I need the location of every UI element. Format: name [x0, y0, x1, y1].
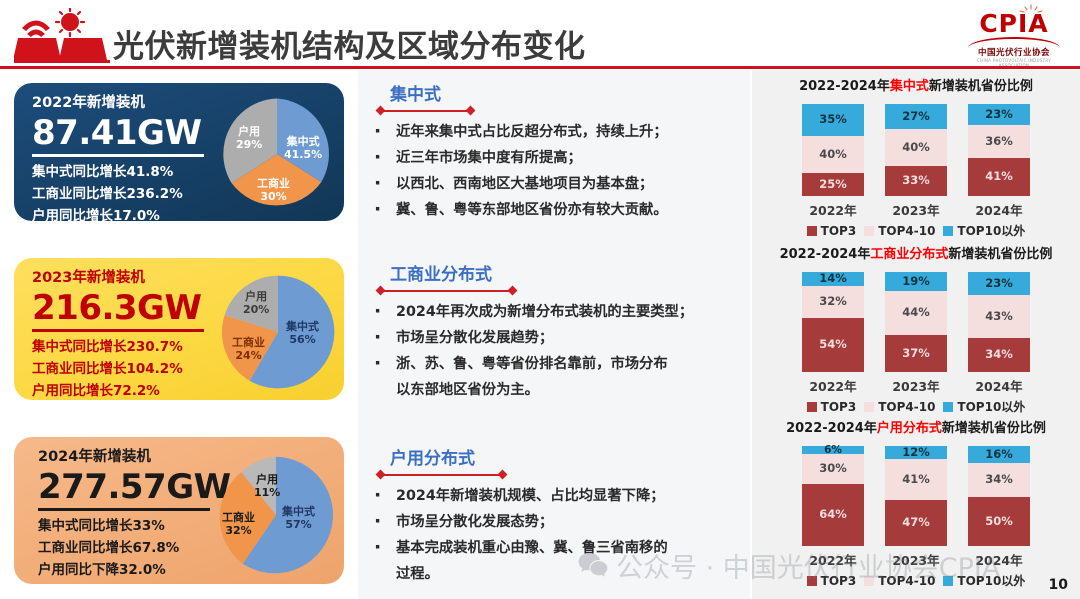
- pie-slice-label: 工商业24%: [232, 336, 265, 362]
- logo-underline: [14, 60, 110, 63]
- cpia-arc: [968, 37, 1060, 48]
- legend-item-top3: TOP3: [807, 572, 857, 589]
- legend-item-top10plus: TOP10以外: [943, 572, 1025, 589]
- x-tick-label: 2024年: [968, 200, 1030, 219]
- section-bullet-list: 近年来集中式占比反超分布式，持续上升； 近三年市场集中度有所提高； 以西北、西南…: [358, 119, 750, 223]
- bullet-item: 市场呈分散化发展趋势；: [358, 325, 750, 351]
- card-total-value: 87.41GW: [32, 113, 214, 153]
- slide-header: 光伏新增装机结构及区域分布变化 CPIA 中国光伏行业协会 CHINA PHOT…: [0, 0, 1080, 70]
- bullet-item: 浙、苏、鲁、粤等省份排名靠前，市场分布: [358, 351, 750, 377]
- section-heading: 集中式: [390, 84, 750, 106]
- page-number: 10: [1049, 577, 1068, 593]
- pie-chart-2023: 集中式56% 工商业24% 户用20%: [218, 272, 338, 392]
- card-divider: [32, 329, 204, 332]
- summary-card-2024: 2024年新增装机 277.57GW 集中式同比增长33% 工商业同比增长67.…: [14, 437, 344, 584]
- card-total-value: 216.3GW: [32, 288, 214, 328]
- card-stat-line: 户用同比增长72.2%: [32, 380, 214, 401]
- section-bullet-list: 2024年再次成为新增分布式装机的主要类型； 市场呈分散化发展趋势； 浙、苏、鲁…: [358, 299, 750, 403]
- pie-svg: [218, 272, 338, 392]
- legend-item-top410: TOP4-10: [864, 572, 935, 589]
- x-tick-label: 2022年: [802, 200, 864, 219]
- chart-plot-area: 14% 32% 54% 19% 44% 37% 23% 43% 34%: [752, 272, 1080, 372]
- bullet-item-continued: 以东部地区省份为主。: [358, 377, 750, 403]
- pie-slice-label: 户用29%: [236, 125, 262, 151]
- card-text-block: 2024年新增装机 277.57GW 集中式同比增长33% 工商业同比增长67.…: [38, 447, 220, 581]
- analysis-section-centralized: 集中式 近年来集中式占比反超分布式，持续上升； 近三年市场集中度有所提高； 以西…: [358, 84, 750, 223]
- bar-stack-2022: 14% 32% 54%: [802, 272, 864, 372]
- section-heading: 工商业分布式: [390, 264, 750, 286]
- chart-x-axis: 2022年 2023年 2024年: [752, 376, 1080, 396]
- segment-top10plus: 27%: [885, 104, 947, 129]
- pie-slice-label: 工商业30%: [257, 177, 290, 203]
- legend-swatch-top410: [864, 402, 874, 412]
- bar-stack-2023: 27% 40% 33%: [885, 104, 947, 196]
- x-tick-label: 2023年: [885, 376, 947, 395]
- segment-top3: 34%: [968, 338, 1030, 372]
- card-stat-line: 集中式同比增长230.7%: [32, 336, 214, 358]
- segment-top410: 40%: [802, 136, 864, 173]
- card-stat-line: 户用同比增长17.0%: [32, 205, 214, 222]
- chart-legend: TOP3 TOP4-10 TOP10以外: [752, 398, 1080, 415]
- segment-top410: 36%: [968, 125, 1030, 158]
- section-underline: [374, 106, 750, 116]
- chart-plot-area: 6% 30% 64% 12% 41% 47% 16% 34% 50%: [752, 446, 1080, 546]
- segment-top10plus: 23%: [968, 272, 1030, 295]
- sun-rays-icon: [1018, 4, 1044, 16]
- segment-top10plus: 12%: [885, 446, 947, 459]
- bar-stack-2023: 19% 44% 37%: [885, 272, 947, 372]
- bullet-item: 市场呈分散化发展态势；: [358, 509, 750, 535]
- cpia-logo: CPIA 中国光伏行业协会 CHINA PHOTOVOLTAIC INDUSTR…: [962, 2, 1066, 64]
- header-divider: [0, 66, 1080, 69]
- legend-swatch-top10plus: [943, 576, 953, 586]
- segment-top3: 41%: [968, 158, 1030, 196]
- pie-slice-label: 户用20%: [243, 290, 269, 316]
- segment-top10plus: 23%: [968, 104, 1030, 125]
- bullet-item: 近三年市场集中度有所提高；: [358, 145, 750, 171]
- legend-swatch-top3: [807, 402, 817, 412]
- chart-legend: TOP3 TOP4-10 TOP10以外: [752, 572, 1080, 589]
- segment-top410: 40%: [885, 129, 947, 166]
- chart-legend: TOP3 TOP4-10 TOP10以外: [752, 222, 1080, 239]
- segment-top3: 50%: [968, 497, 1030, 546]
- legend-item-top3: TOP3: [807, 222, 857, 239]
- pie-chart-2024: 集中式57% 工商业32% 户用11%: [214, 453, 338, 577]
- card-text-block: 2023年新增装机 216.3GW 集中式同比增长230.7% 工商业同比增长1…: [32, 268, 214, 400]
- slide-root: 光伏新增装机结构及区域分布变化 CPIA 中国光伏行业协会 CHINA PHOT…: [0, 0, 1080, 599]
- x-tick-label: 2022年: [802, 550, 864, 569]
- pie-slice-label: 集中式56%: [286, 320, 319, 346]
- pie-slice-label: 户用11%: [254, 473, 280, 499]
- card-divider: [32, 154, 204, 157]
- section-underline: [374, 470, 750, 480]
- bullet-item-continued: 过程。: [358, 561, 750, 587]
- section-bullet-list: 2024年新增装机规模、占比均显著下降； 市场呈分散化发展态势； 基本完成装机重…: [358, 483, 750, 587]
- analysis-section-residential: 户用分布式 2024年新增装机规模、占比均显著下降； 市场呈分散化发展态势； 基…: [358, 448, 750, 587]
- segment-top3: 33%: [885, 166, 947, 196]
- bullet-item: 2024年再次成为新增分布式装机的主要类型；: [358, 299, 750, 325]
- pie-chart-2022: 集中式41.5% 工商业30% 户用29%: [218, 95, 336, 213]
- card-year-label: 2024年新增装机: [38, 447, 220, 467]
- bar-stack-2022: 35% 40% 25%: [802, 104, 864, 196]
- bar-stack-2024: 23% 43% 34%: [968, 272, 1030, 372]
- analysis-column: 集中式 近年来集中式占比反超分布式，持续上升； 近三年市场集中度有所提高； 以西…: [358, 70, 750, 599]
- bullet-item: 2024年新增装机规模、占比均显著下降；: [358, 483, 750, 509]
- legend-swatch-top10plus: [943, 226, 953, 236]
- chart-title: 2022-2024年户用分布式新增装机省份比例: [752, 420, 1080, 438]
- segment-top410: 44%: [885, 291, 947, 335]
- x-tick-label: 2024年: [968, 550, 1030, 569]
- legend-item-top3: TOP3: [807, 398, 857, 415]
- pie-slice-label: 集中式41.5%: [284, 135, 322, 161]
- card-stat-line: 工商业同比增长236.2%: [32, 183, 214, 205]
- card-text-block: 2022年新增装机 87.41GW 集中式同比增长41.8% 工商业同比增长23…: [32, 93, 214, 221]
- legend-swatch-top3: [807, 576, 817, 586]
- legend-swatch-top410: [864, 576, 874, 586]
- section-underline: [374, 286, 750, 296]
- bar-stack-2024: 23% 36% 41%: [968, 104, 1030, 196]
- segment-top10plus: 16%: [968, 446, 1030, 463]
- bullet-item: 以西北、西南地区大基地项目为基本盘；: [358, 171, 750, 197]
- segment-top10plus: 6%: [802, 446, 864, 454]
- x-tick-label: 2023年: [885, 550, 947, 569]
- segment-top410: 30%: [802, 454, 864, 484]
- cpia-cn-name: 中国光伏行业协会: [962, 48, 1066, 58]
- chart-title: 2022-2024年集中式新增装机省份比例: [752, 78, 1080, 96]
- segment-top3: 47%: [885, 500, 947, 546]
- segment-top10plus: 35%: [802, 104, 864, 136]
- segment-top10plus: 14%: [802, 272, 864, 286]
- summary-card-2022: 2022年新增装机 87.41GW 集中式同比增长41.8% 工商业同比增长23…: [14, 83, 344, 221]
- card-stat-line: 工商业同比增长104.2%: [32, 358, 214, 380]
- segment-top3: 25%: [802, 173, 864, 196]
- charts-column: 2022-2024年集中式新增装机省份比例 35% 40% 25% 27% 40…: [752, 70, 1080, 599]
- card-stat-line: 集中式同比增长41.8%: [32, 161, 214, 183]
- segment-top3: 54%: [802, 318, 864, 372]
- chart-residential-province-share: 2022-2024年户用分布式新增装机省份比例 6% 30% 64% 12% 4…: [752, 420, 1080, 589]
- chart-title: 2022-2024年工商业分布式新增装机省份比例: [752, 246, 1080, 264]
- page-title: 光伏新增装机结构及区域分布变化: [113, 21, 586, 66]
- card-divider: [38, 508, 210, 511]
- segment-top410: 41%: [885, 459, 947, 500]
- pie-slice-label: 工商业32%: [222, 511, 255, 537]
- chart-commercial-province-share: 2022-2024年工商业分布式新增装机省份比例 14% 32% 54% 19%…: [752, 246, 1080, 415]
- legend-item-top410: TOP4-10: [864, 222, 935, 239]
- x-tick-label: 2023年: [885, 200, 947, 219]
- x-tick-label: 2024年: [968, 376, 1030, 395]
- card-year-label: 2022年新增装机: [32, 93, 214, 113]
- legend-item-top10plus: TOP10以外: [943, 222, 1025, 239]
- bullet-item: 近年来集中式占比反超分布式，持续上升；: [358, 119, 750, 145]
- legend-swatch-top10plus: [943, 402, 953, 412]
- pie-slice-label: 集中式57%: [282, 505, 315, 531]
- section-heading: 户用分布式: [390, 448, 750, 470]
- x-tick-label: 2022年: [802, 376, 864, 395]
- card-stat-line: 集中式同比增长33%: [38, 515, 220, 537]
- chart-x-axis: 2022年 2023年 2024年: [752, 200, 1080, 220]
- bullet-item: 基本完成装机重心由豫、冀、鲁三省南移的: [358, 535, 750, 561]
- chart-plot-area: 35% 40% 25% 27% 40% 33% 23% 36% 41%: [752, 104, 1080, 196]
- card-total-value: 277.57GW: [38, 467, 220, 507]
- segment-top3: 37%: [885, 335, 947, 372]
- segment-top410: 34%: [968, 463, 1030, 497]
- segment-top3: 64%: [802, 484, 864, 546]
- analysis-section-commercial: 工商业分布式 2024年再次成为新增分布式装机的主要类型； 市场呈分散化发展趋势…: [358, 264, 750, 403]
- legend-item-top10plus: TOP10以外: [943, 398, 1025, 415]
- chart-centralized-province-share: 2022-2024年集中式新增装机省份比例 35% 40% 25% 27% 40…: [752, 78, 1080, 239]
- card-year-label: 2023年新增装机: [32, 268, 214, 288]
- chart-x-axis: 2022年 2023年 2024年: [752, 550, 1080, 570]
- segment-top10plus: 19%: [885, 272, 947, 291]
- solar-panel-sun-icon: [14, 8, 110, 64]
- cpia-wordmark: CPIA: [962, 11, 1066, 37]
- legend-item-top410: TOP4-10: [864, 398, 935, 415]
- bullet-item: 冀、鲁、粤等东部地区省份亦有较大贡献。: [358, 197, 750, 223]
- legend-swatch-top3: [807, 226, 817, 236]
- card-stat-line: 工商业同比增长67.8%: [38, 537, 220, 559]
- bar-stack-2022: 6% 30% 64%: [802, 446, 864, 546]
- bar-stack-2023: 12% 41% 47%: [885, 446, 947, 546]
- summary-card-2023: 2023年新增装机 216.3GW 集中式同比增长230.7% 工商业同比增长1…: [14, 258, 344, 400]
- bar-stack-2024: 16% 34% 50%: [968, 446, 1030, 546]
- segment-top410: 43%: [968, 295, 1030, 338]
- legend-swatch-top410: [864, 226, 874, 236]
- card-stat-line: 户用同比下降32.0%: [38, 559, 220, 581]
- segment-top410: 32%: [802, 286, 864, 318]
